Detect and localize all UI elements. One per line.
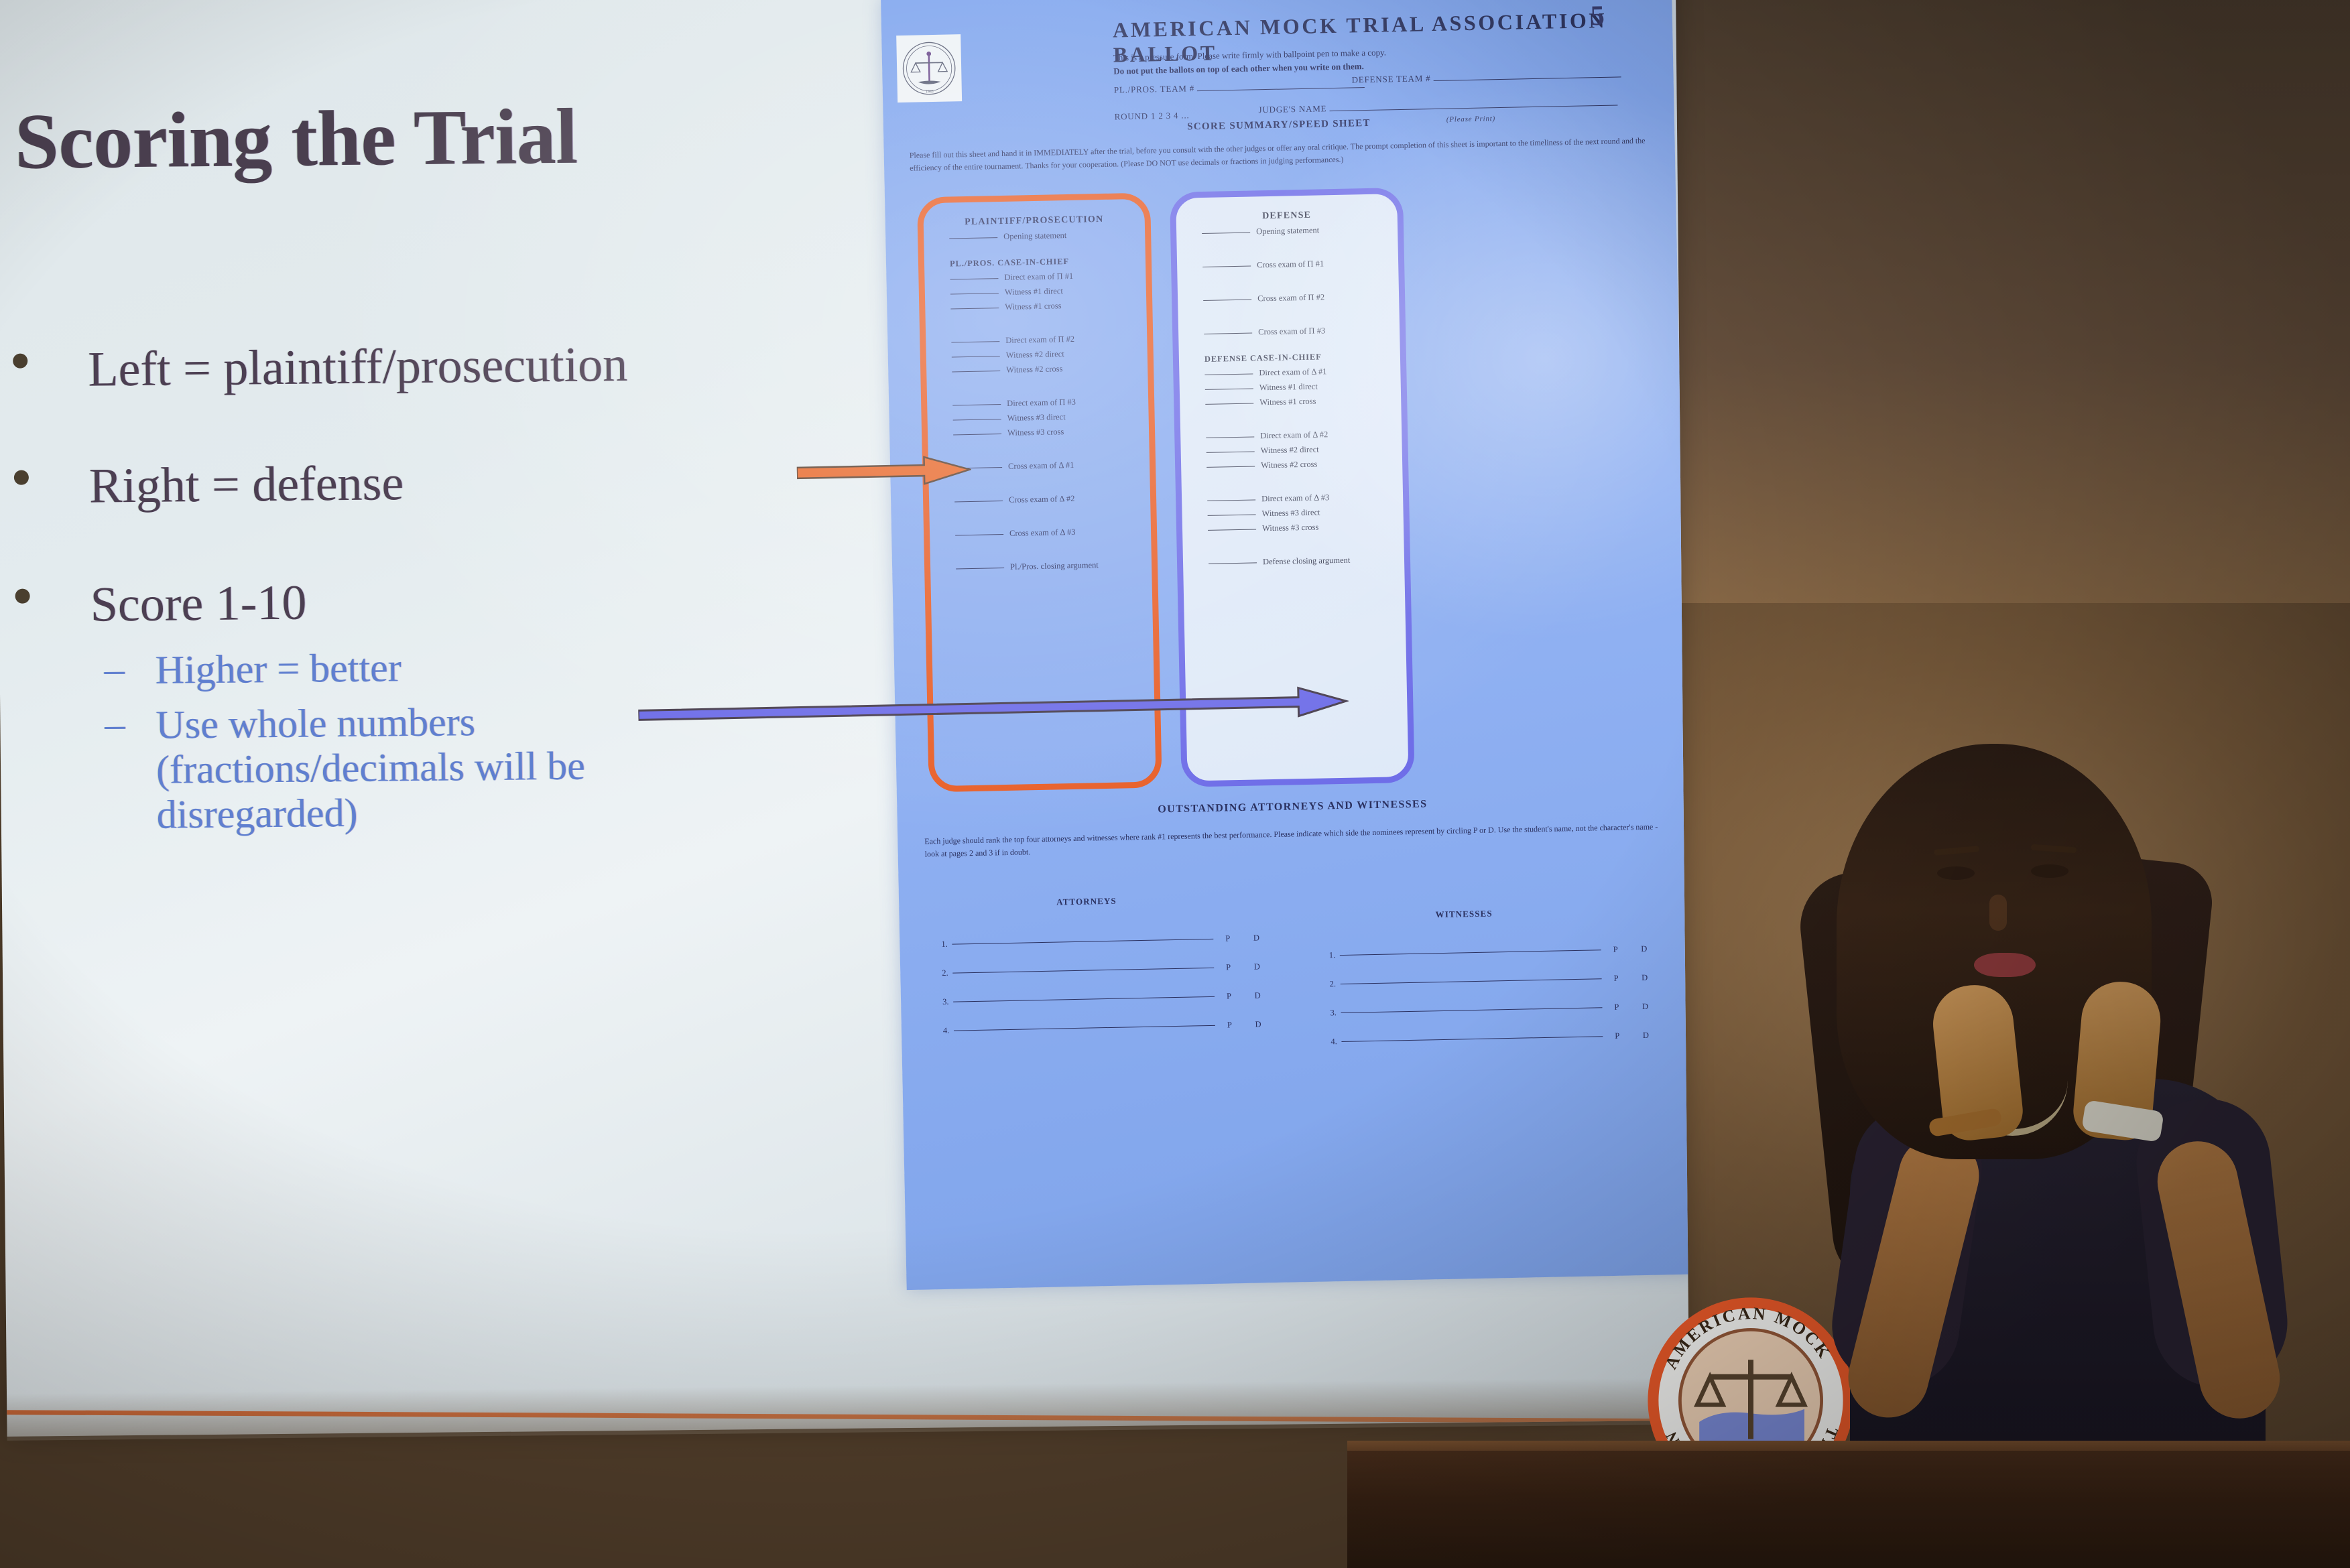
- input-defense-team[interactable]: [1434, 76, 1621, 81]
- ballot-score-line[interactable]: Direct exam of Δ #3: [1207, 491, 1403, 505]
- score-line-label: Defense closing argument: [1263, 556, 1351, 567]
- ballot-score-line[interactable]: Direct exam of Π #3: [952, 396, 1148, 410]
- score-line-label: Witness #3 direct: [1007, 412, 1066, 423]
- witnesses-label: WITNESSES: [1435, 908, 1492, 920]
- sub-bullet-whole-numbers: – Use whole numbers (fractions/decimals …: [109, 698, 639, 838]
- score-line-label: Witness #1 direct: [1259, 382, 1318, 393]
- bullet-item-score: Score 1-10: [5, 571, 877, 632]
- rank-name-input[interactable]: [952, 968, 1214, 974]
- score-input-blank[interactable]: [1209, 562, 1257, 564]
- bullet-label-right: Right = defense: [89, 453, 877, 513]
- score-line-label: Witness #3 cross: [1007, 427, 1064, 438]
- rank-number: 1.: [941, 939, 952, 950]
- score-line-label: Witness #2 cross: [1006, 364, 1062, 375]
- field-label-defense: DEFENSE TEAM #: [1351, 73, 1430, 84]
- score-line-label: Cross exam of Δ #1: [1008, 460, 1074, 471]
- ballot-score-line[interactable]: Opening statement: [949, 229, 1145, 243]
- bullet-label-left: Left = plaintiff/prosecution: [88, 336, 875, 396]
- dash-icon: –: [104, 647, 125, 692]
- score-line-label: Direct exam of Δ #2: [1260, 430, 1328, 440]
- input-judge-name[interactable]: [1329, 105, 1617, 111]
- side-p-d-toggle[interactable]: P D: [1227, 990, 1272, 1000]
- ballot-score-line[interactable]: Witness #2 direct: [1207, 443, 1402, 457]
- score-input-blank[interactable]: [953, 434, 1001, 435]
- outstanding-paragraph: Each judge should rank the top four atto…: [924, 820, 1662, 860]
- score-input-blank[interactable]: [1207, 466, 1255, 467]
- sub-bullet-label-whole-numbers: Use whole numbers (fractions/decimals wi…: [156, 698, 639, 837]
- score-input-blank[interactable]: [953, 419, 1001, 420]
- bullet-dot-icon: [13, 354, 27, 369]
- score-input-blank[interactable]: [955, 534, 1003, 535]
- ballot-score-line[interactable]: Direct exam of Δ #2: [1206, 428, 1402, 442]
- side-p-d-toggle[interactable]: P D: [1614, 1002, 1659, 1012]
- scales-of-justice-seal-icon: 1985: [900, 40, 958, 97]
- score-input-blank[interactable]: [1203, 300, 1251, 301]
- presenter-person: [1716, 704, 2350, 1568]
- score-input-blank[interactable]: [951, 341, 999, 342]
- rank-name-input[interactable]: [1341, 978, 1602, 984]
- side-p-d-toggle[interactable]: P D: [1227, 1019, 1272, 1029]
- ballot-score-line[interactable]: Witness #2 direct: [952, 348, 1148, 362]
- score-line-label: Cross exam of Δ #3: [1009, 527, 1076, 538]
- ballot-score-line[interactable]: Direct exam of Π #2: [951, 333, 1147, 347]
- rank-number: 4.: [1331, 1037, 1341, 1047]
- rank-name-input[interactable]: [1341, 1036, 1603, 1042]
- score-line-label: Opening statement: [1256, 225, 1319, 236]
- score-line-label: Witness #1 direct: [1005, 286, 1063, 297]
- score-line-label: Opening statement: [1003, 231, 1066, 241]
- field-pl-pros-team: PL./PROS. TEAM #: [1114, 80, 1365, 96]
- score-input-blank[interactable]: [1208, 514, 1256, 515]
- ballot-image: AMERICAN MOCK TRIAL ASSOCIATION BALLOT 5: [881, 0, 1690, 1290]
- dash-icon: –: [105, 702, 125, 746]
- rank-row[interactable]: 2.P D: [1330, 973, 1659, 990]
- score-line-label: Witness #1 cross: [1259, 397, 1316, 407]
- rank-row[interactable]: 3.P D: [942, 990, 1272, 1007]
- score-input-blank[interactable]: [1207, 451, 1255, 452]
- ballot-section-heading: DEFENSE CASE-IN-CHIEF: [1204, 350, 1400, 365]
- witnesses-rank-list: 1.P D2.P D3.P D4.P D: [1329, 944, 1660, 1066]
- rank-name-input[interactable]: [1341, 1007, 1603, 1013]
- score-input-blank[interactable]: [1202, 266, 1251, 267]
- eye-left: [1937, 866, 1975, 880]
- score-input-blank[interactable]: [1207, 499, 1255, 501]
- score-line-label: Cross exam of Π #2: [1257, 292, 1324, 303]
- svg-text:1985: 1985: [926, 90, 934, 94]
- rank-row[interactable]: 1.P D: [941, 933, 1270, 950]
- side-p-d-toggle[interactable]: P D: [1613, 944, 1658, 954]
- rank-number: 3.: [942, 997, 953, 1007]
- score-input-blank[interactable]: [1206, 436, 1254, 438]
- score-input-blank[interactable]: [1202, 233, 1250, 234]
- score-line-label: Witness #1 cross: [1005, 301, 1061, 312]
- score-line-label: Direct exam of Π #1: [1004, 271, 1073, 282]
- field-label-judge: JUDGE'S NAME: [1258, 103, 1326, 115]
- field-round: ROUND 1 2 3 4 ...: [1115, 110, 1190, 122]
- bullet-dot-icon: [14, 470, 29, 485]
- score-line-label: Cross exam of Δ #2: [1009, 494, 1075, 505]
- score-input-blank[interactable]: [949, 237, 997, 239]
- score-input-blank[interactable]: [950, 308, 999, 309]
- sub-bullet-label-higher: Higher = better: [155, 641, 878, 694]
- rank-number: 4.: [943, 1026, 954, 1036]
- rank-name-input[interactable]: [954, 1025, 1215, 1031]
- score-line-label: Witness #2 direct: [1261, 445, 1319, 456]
- ballot-score-line[interactable]: Witness #3 direct: [953, 411, 1149, 425]
- eye-right: [2031, 864, 2068, 878]
- score-input-blank[interactable]: [950, 293, 999, 294]
- score-input-blank[interactable]: [952, 371, 1000, 372]
- field-judge-name: JUDGE'S NAME: [1258, 97, 1617, 115]
- rank-row[interactable]: 3.P D: [1330, 1002, 1659, 1019]
- score-input-blank[interactable]: [1208, 529, 1256, 530]
- score-line-label: Cross exam of Π #1: [1257, 259, 1324, 269]
- column-heading-plaintiff: PLAINTIFF/PROSECUTION: [923, 199, 1145, 229]
- score-input-blank[interactable]: [950, 278, 998, 279]
- attorneys-label: ATTORNEYS: [1056, 896, 1117, 908]
- score-line-label: Witness #2 cross: [1261, 460, 1317, 470]
- rank-number: 2.: [1330, 979, 1341, 989]
- ballot-section-heading: PL./PROS. CASE-IN-CHIEF: [950, 255, 1146, 269]
- ballot-page-number: 5: [1590, 0, 1605, 32]
- bullet-item-right: Right = defense: [5, 453, 877, 514]
- rank-number: 3.: [1330, 1008, 1341, 1018]
- rank-name-input[interactable]: [953, 996, 1215, 1002]
- score-line-label: Direct exam of Π #2: [1005, 334, 1074, 345]
- nose: [1989, 895, 2007, 931]
- score-input-blank[interactable]: [1204, 333, 1252, 334]
- rank-name-input[interactable]: [952, 939, 1213, 945]
- score-input-blank[interactable]: [954, 501, 1003, 502]
- bullet-label-score: Score 1-10: [90, 571, 877, 631]
- side-p-d-toggle[interactable]: P D: [1613, 973, 1658, 983]
- score-line-label: Direct exam of Δ #1: [1259, 367, 1326, 377]
- ballot-score-line[interactable]: Cross exam of Π #3: [1204, 324, 1400, 338]
- ballot-score-line[interactable]: Witness #1 direct: [1205, 380, 1401, 394]
- ballot-score-line[interactable]: Witness #1 direct: [950, 285, 1146, 299]
- amta-seal-box: 1985: [896, 34, 962, 103]
- podium: [1347, 1451, 2350, 1568]
- orange-arrow-icon: [796, 455, 971, 488]
- ballot-score-line[interactable]: Direct exam of Δ #1: [1204, 365, 1400, 379]
- rank-number: 2.: [942, 968, 952, 978]
- score-input-blank[interactable]: [952, 404, 1001, 405]
- photo-of-presentation: Scoring the Trial Left = plaintiff/prose…: [0, 0, 2350, 1568]
- ballot-score-line[interactable]: Direct exam of Π #1: [950, 270, 1146, 284]
- side-p-d-toggle[interactable]: P D: [1226, 962, 1271, 972]
- rank-row[interactable]: 1.P D: [1329, 944, 1658, 961]
- rank-row[interactable]: 4.P D: [943, 1019, 1272, 1036]
- score-input-blank[interactable]: [952, 356, 1000, 357]
- score-line-label: Direct exam of Δ #3: [1261, 493, 1329, 503]
- score-input-blank[interactable]: [1205, 388, 1253, 389]
- field-label-pl-pros: PL./PROS. TEAM #: [1114, 83, 1194, 94]
- score-line-label: Witness #3 cross: [1262, 523, 1318, 533]
- input-pl-pros-team[interactable]: [1197, 87, 1365, 91]
- projection-screen: Scoring the Trial Left = plaintiff/prose…: [0, 0, 1690, 1437]
- bullet-item-left: Left = plaintiff/prosecution: [3, 336, 875, 397]
- side-p-d-toggle[interactable]: P D: [1615, 1031, 1660, 1041]
- column-heading-defense: DEFENSE: [1176, 194, 1398, 224]
- side-p-d-toggle[interactable]: P D: [1225, 933, 1270, 943]
- score-line-label: Witness #3 direct: [1261, 508, 1320, 519]
- rank-number: 1.: [1329, 950, 1340, 960]
- field-label-round: ROUND 1 2 3 4 ...: [1115, 110, 1190, 121]
- bullet-dot-icon: [15, 588, 29, 603]
- rank-row[interactable]: 4.P D: [1331, 1031, 1660, 1047]
- score-input-blank[interactable]: [956, 568, 1004, 569]
- ballot-score-line[interactable]: Witness #3 direct: [1207, 506, 1403, 520]
- score-line-label: Direct exam of Π #3: [1007, 397, 1076, 408]
- rank-name-input[interactable]: [1340, 950, 1601, 956]
- score-line-label: Witness #2 direct: [1006, 349, 1064, 360]
- outstanding-heading: OUTSTANDING ATTORNEYS AND WITNESSES: [897, 793, 1688, 822]
- wall-shadow: [1662, 0, 2350, 603]
- score-input-blank[interactable]: [1204, 373, 1253, 375]
- score-line-label: Cross exam of Π #3: [1258, 326, 1325, 336]
- sub-bullet-higher: – Higher = better: [108, 641, 878, 694]
- score-input-blank[interactable]: [1205, 403, 1253, 404]
- slide-bullet-list: Left = plaintiff/prosecution Right = def…: [3, 336, 879, 839]
- attorneys-rank-list: 1.P D2.P D3.P D4.P D: [941, 933, 1272, 1055]
- mouth: [1974, 953, 2036, 977]
- score-line-label: Pl./Pros. closing argument: [1010, 560, 1099, 572]
- ballot-score-line[interactable]: Defense closing argument: [1209, 554, 1404, 568]
- page-title: Scoring the Trial: [14, 91, 578, 188]
- rank-row[interactable]: 2.P D: [942, 962, 1271, 978]
- ballot-score-line[interactable]: Pl./Pros. closing argument: [956, 560, 1152, 574]
